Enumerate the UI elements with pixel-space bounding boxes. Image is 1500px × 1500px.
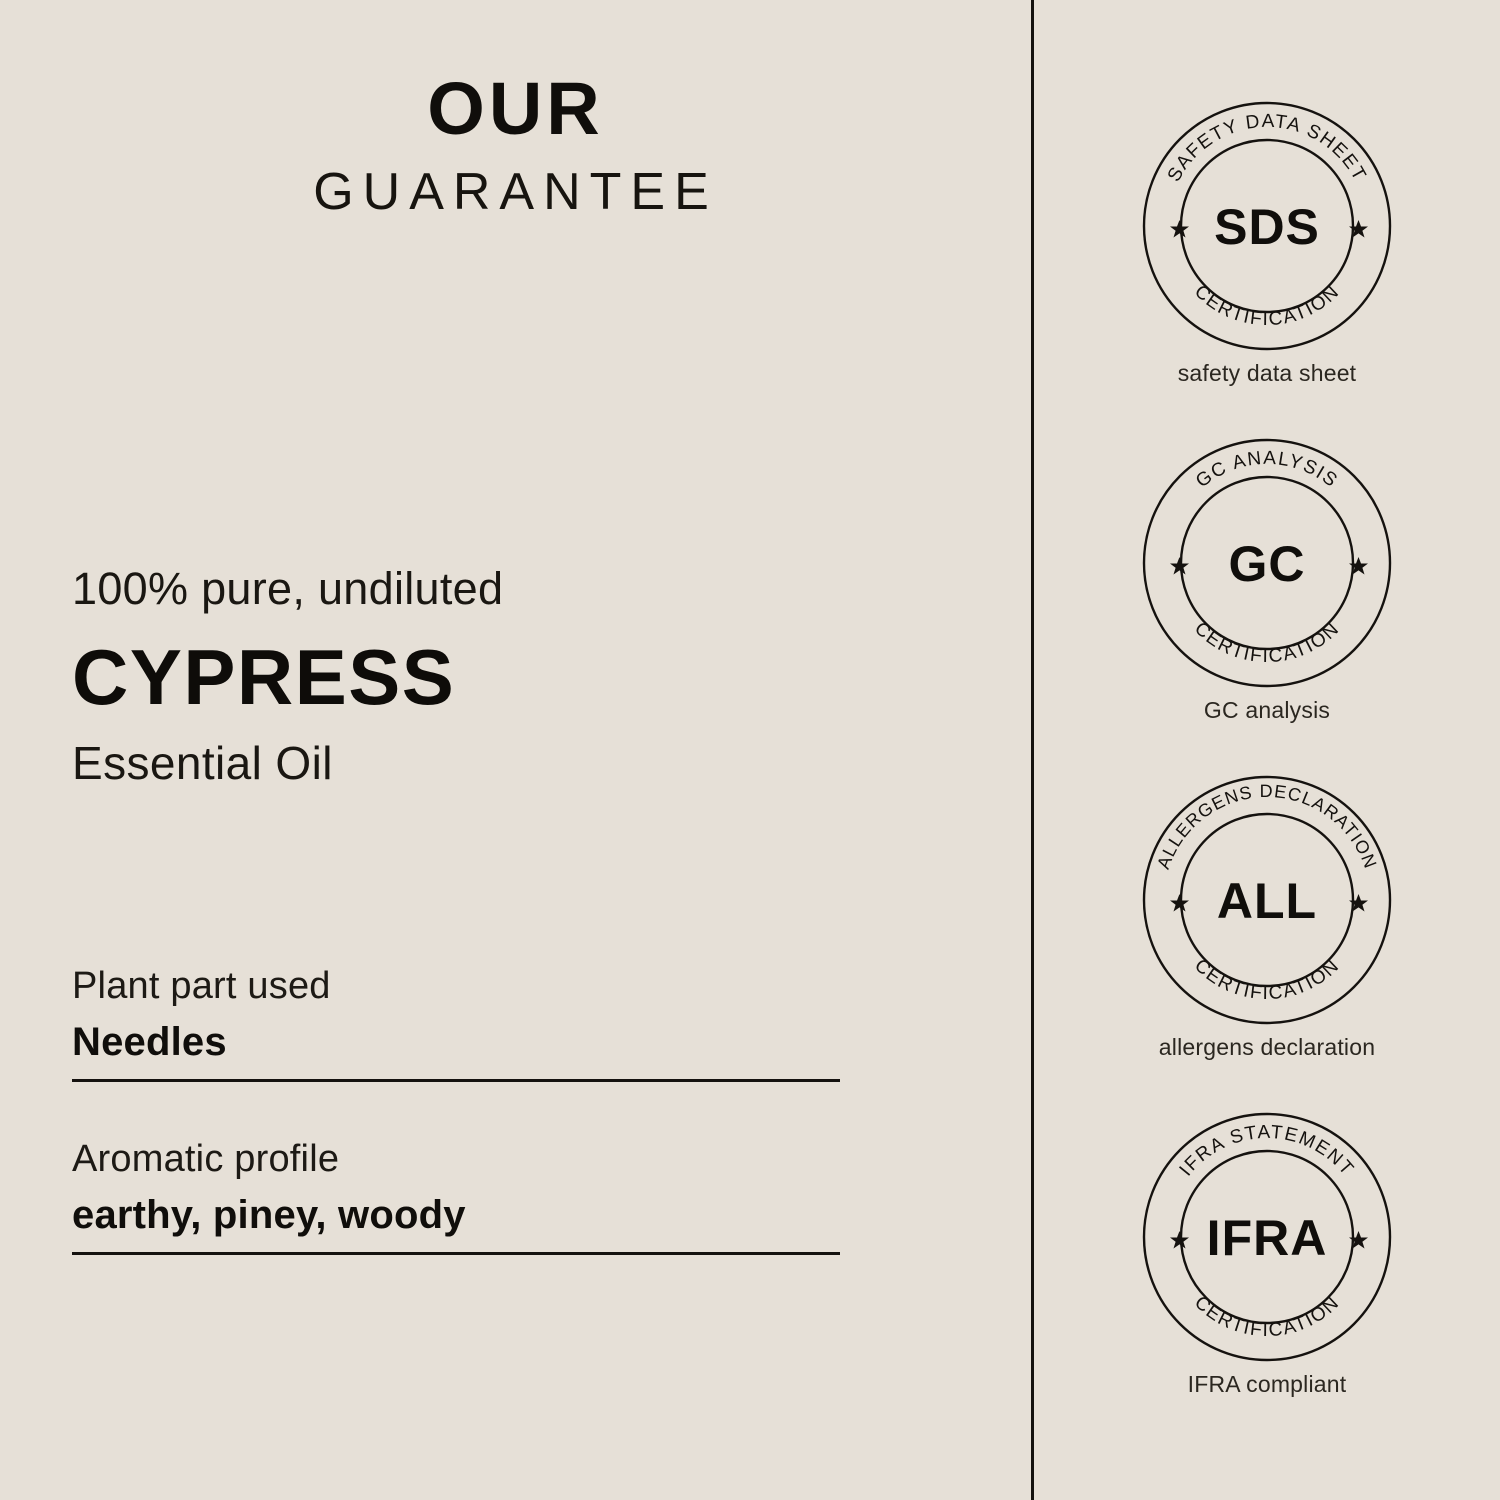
spec-plant-part-used: Plant part used Needles	[72, 965, 840, 1082]
certification-badge-safety-data-sheet: SAFETY DATA SHEET CERTIFICATION SDS safe…	[1034, 100, 1500, 388]
svg-text:CERTIFICATION: CERTIFICATION	[1190, 281, 1344, 330]
certification-badge-gc-analysis: GC ANALYSIS CERTIFICATION GC GC analysis	[1034, 437, 1500, 725]
spec-label: Aromatic profile	[72, 1138, 840, 1182]
badge-caption: safety data sheet	[1034, 360, 1500, 388]
spec-aromatic-profile: Aromatic profile earthy, piney, woody	[72, 1138, 840, 1255]
svg-text:GC ANALYSIS: GC ANALYSIS	[1192, 448, 1342, 492]
spec-value: Needles	[72, 1019, 840, 1065]
spec-label: Plant part used	[72, 965, 840, 1009]
svg-text:GC: GC	[1229, 536, 1306, 592]
page-title-primary: OUR	[0, 72, 1031, 146]
svg-text:IFRA: IFRA	[1207, 1210, 1328, 1266]
certification-badge-allergens-declaration: ALLERGENS DECLARATION CERTIFICATION ALL …	[1034, 774, 1500, 1062]
left-information-column: OUR GUARANTEE 100% pure, undiluted CYPRE…	[0, 0, 1031, 1500]
svg-text:CERTIFICATION: CERTIFICATION	[1190, 955, 1344, 1004]
svg-text:CERTIFICATION: CERTIFICATION	[1190, 618, 1344, 667]
seal-badge-icon: GC ANALYSIS CERTIFICATION GC	[1141, 437, 1393, 689]
product-guarantee-panel: OUR GUARANTEE 100% pure, undiluted CYPRE…	[0, 0, 1500, 1500]
seal-badge-icon: IFRA STATEMENT CERTIFICATION IFRA	[1141, 1111, 1393, 1363]
svg-text:SAFETY DATA SHEET: SAFETY DATA SHEET	[1164, 111, 1371, 185]
product-type: Essential Oil	[72, 740, 952, 786]
badge-caption: GC analysis	[1034, 697, 1500, 725]
spec-value: earthy, piney, woody	[72, 1192, 840, 1238]
product-name: CYPRESS	[72, 638, 952, 716]
svg-text:ALL: ALL	[1217, 873, 1317, 929]
spec-divider-rule	[72, 1079, 840, 1082]
seal-badge-icon: ALLERGENS DECLARATION CERTIFICATION ALL	[1141, 774, 1393, 1026]
certification-badge-ifra-statement: IFRA STATEMENT CERTIFICATION IFRA IFRA c…	[1034, 1111, 1500, 1399]
svg-text:SDS: SDS	[1214, 199, 1320, 255]
badge-caption: IFRA compliant	[1034, 1371, 1500, 1399]
page-title-secondary: GUARANTEE	[0, 166, 1031, 218]
page-title-block: OUR GUARANTEE	[0, 72, 1031, 218]
product-purity-text: 100% pure, undiluted	[72, 565, 952, 612]
svg-text:CERTIFICATION: CERTIFICATION	[1190, 1292, 1344, 1341]
spec-divider-rule	[72, 1252, 840, 1255]
svg-text:ALLERGENS DECLARATION: ALLERGENS DECLARATION	[1153, 781, 1381, 872]
product-identity-block: 100% pure, undiluted CYPRESS Essential O…	[72, 565, 952, 786]
certification-badges-column: SAFETY DATA SHEET CERTIFICATION SDS safe…	[1034, 0, 1500, 1500]
badge-caption: allergens declaration	[1034, 1034, 1500, 1062]
seal-badge-icon: SAFETY DATA SHEET CERTIFICATION SDS	[1141, 100, 1393, 352]
